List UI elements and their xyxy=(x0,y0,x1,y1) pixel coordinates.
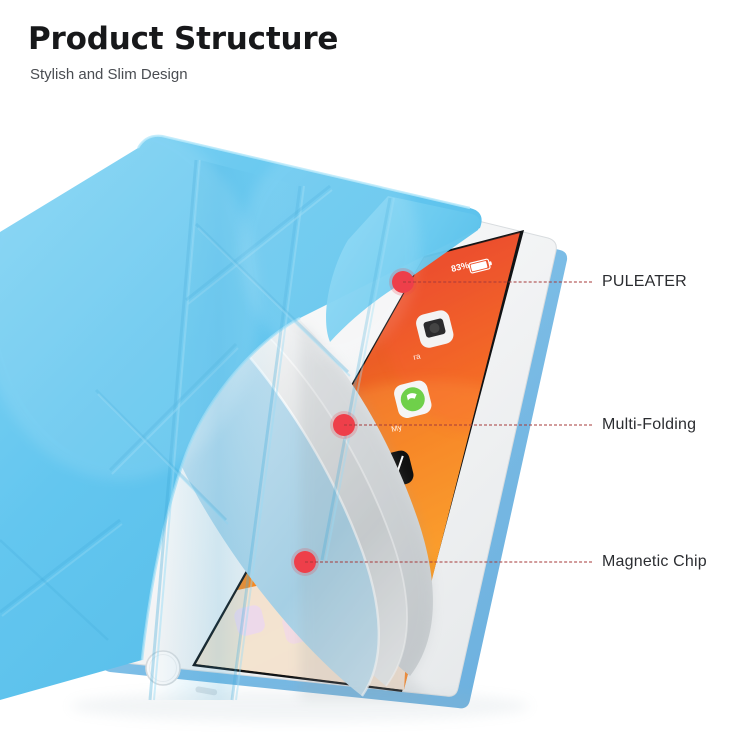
callout-label-magnetic-chip: Magnetic Chip xyxy=(602,553,707,571)
callout-line-magnetic-chip xyxy=(305,562,592,563)
callout-line-multi-folding xyxy=(344,425,592,426)
callout-label-multi-folding: Multi-Folding xyxy=(602,416,696,434)
callout-label-pu-leather: PULEATER xyxy=(602,273,687,291)
callout-layer: PULEATER Multi-Folding Magnetic Chip xyxy=(0,0,750,750)
product-structure-page: Product Structure Stylish and Slim Desig… xyxy=(0,0,750,750)
callout-line-pu-leather xyxy=(403,282,592,283)
